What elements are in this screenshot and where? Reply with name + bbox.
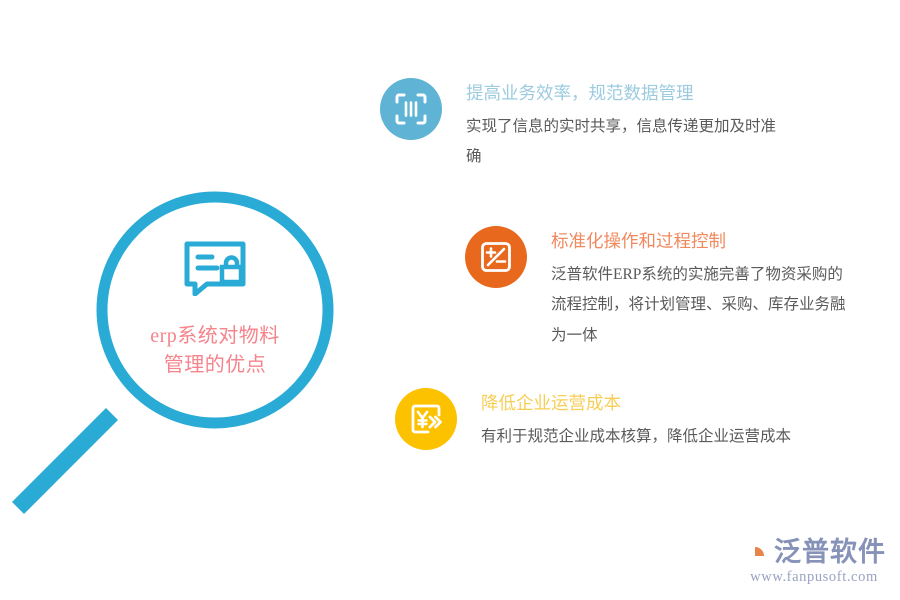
yuan-forward-icon: [409, 402, 443, 436]
message-lock-icon: [183, 240, 247, 296]
magnifier-center-text: erp系统对物料 管理的优点: [150, 322, 280, 380]
list-item-body: 提高业务效率，规范数据管理 实现了信息的实时共享，信息传递更加及时准确: [466, 78, 786, 173]
list-item-body: 标准化操作和过程控制 泛普软件ERP系统的实施完善了物资采购的流程控制，将计划管…: [551, 226, 851, 351]
list-item-body: 降低企业运营成本 有利于规范企业成本核算，降低企业运营成本: [481, 388, 791, 452]
list-item-title: 降低企业运营成本: [481, 390, 791, 416]
list-item-description: 实现了信息的实时共享，信息传递更加及时准确: [466, 112, 786, 172]
yuan-forward-icon-badge: [395, 388, 457, 450]
list-item: 标准化操作和过程控制 泛普软件ERP系统的实施完善了物资采购的流程控制，将计划管…: [465, 226, 851, 351]
logo-url: www.fanpusoft.com: [742, 569, 886, 586]
list-item-title: 提高业务效率，规范数据管理: [466, 80, 786, 106]
barcode-scan-icon-badge: [380, 78, 442, 140]
list-item-description: 有利于规范企业成本核算，降低企业运营成本: [481, 422, 791, 452]
list-item: 提高业务效率，规范数据管理 实现了信息的实时共享，信息传递更加及时准确: [380, 78, 786, 173]
benefits-list: 提高业务效率，规范数据管理 实现了信息的实时共享，信息传递更加及时准确 标准化操…: [380, 0, 900, 600]
fanpu-logo-mark: [742, 538, 770, 566]
brand-logo: 泛普软件 www.fanpusoft.com: [742, 538, 886, 586]
magnifier-center-content: erp系统对物料 管理的优点: [102, 197, 328, 423]
list-item-title: 标准化操作和过程控制: [551, 228, 851, 254]
barcode-scan-icon: [394, 92, 428, 126]
plus-minus-square-icon: [479, 240, 513, 274]
list-item: 降低企业运营成本 有利于规范企业成本核算，降低企业运营成本: [395, 388, 791, 452]
infographic-canvas: erp系统对物料 管理的优点 提高业务效率，规范数据管理 实现了信息的实时共享，…: [0, 0, 900, 600]
logo-name: 泛普软件: [774, 539, 886, 566]
magnifier-graphic: erp系统对物料 管理的优点: [0, 170, 360, 530]
list-item-description: 泛普软件ERP系统的实施完善了物资采购的流程控制，将计划管理、采购、库存业务融为…: [551, 260, 851, 351]
logo-row: 泛普软件: [742, 538, 886, 566]
plus-minus-square-icon-badge: [465, 226, 527, 288]
